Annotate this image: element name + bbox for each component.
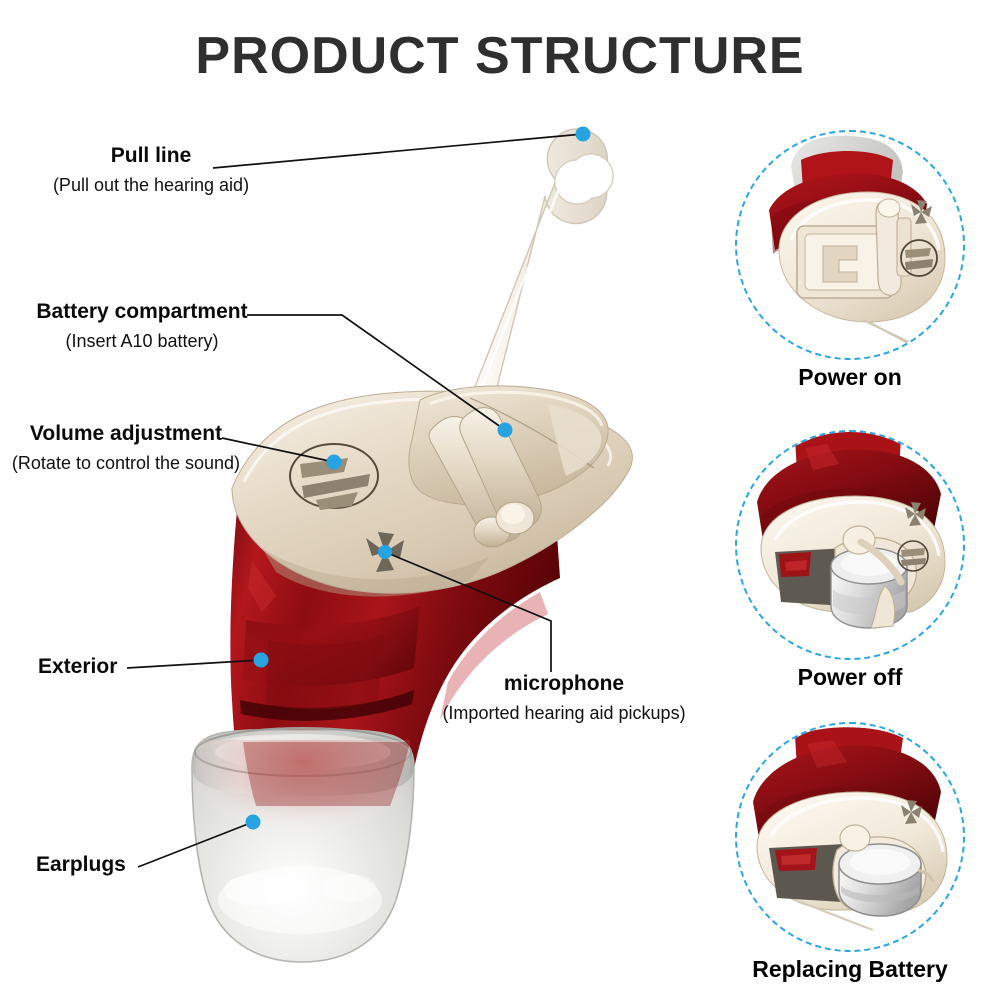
- panel-power-on-caption: Power on: [725, 364, 975, 391]
- panel-replacing-battery-figure: [735, 722, 965, 952]
- dashed-circle-power-off: [735, 430, 965, 660]
- callout-volume-sub: (Rotate to control the sound): [4, 453, 248, 474]
- dashed-circle-replacing-battery: [735, 722, 965, 952]
- callout-pull-line: Pull line (Pull out the hearing aid): [36, 144, 266, 196]
- red-shell: [230, 500, 560, 790]
- callout-battery-label: Battery compartment: [32, 300, 252, 324]
- callout-microphone-sub: (Imported hearing aid pickups): [440, 703, 688, 724]
- callout-earplugs-label: Earplugs: [36, 853, 126, 877]
- marker-dots: [246, 127, 591, 830]
- panel-replacing-battery: Replacing Battery: [725, 722, 975, 983]
- dashed-circle-power-on: [735, 130, 965, 360]
- volume-wheel-graphic: [290, 444, 378, 510]
- leader-exterior: [127, 660, 261, 668]
- battery-door-graphic: [409, 386, 608, 547]
- microphone-port-graphic: [366, 532, 404, 572]
- shell-inside-plug: [243, 742, 410, 806]
- callout-battery-sub: (Insert A10 battery): [32, 331, 252, 352]
- panel-power-on-figure: [735, 130, 965, 360]
- marker-dot-pull-line: [576, 127, 591, 142]
- callout-microphone-label: microphone: [440, 672, 688, 696]
- callout-volume-adjustment: Volume adjustment (Rotate to control the…: [4, 422, 248, 474]
- panel-power-off-figure: [735, 430, 965, 660]
- callout-pull-line-label: Pull line: [36, 144, 266, 168]
- leader-pull-line: [213, 134, 583, 168]
- callout-exterior-label: Exterior: [38, 655, 117, 679]
- marker-dot-microphone: [378, 545, 392, 559]
- earplug-graphic: [192, 728, 414, 962]
- marker-dot-exterior: [254, 653, 269, 668]
- product-structure-diagram: PRODUCT STRUCTURE: [0, 0, 1000, 1000]
- marker-dot-battery: [498, 423, 513, 438]
- panel-power-off: Power off: [725, 430, 975, 691]
- callout-exterior: Exterior: [38, 655, 117, 679]
- leader-battery: [247, 315, 505, 430]
- callout-volume-label: Volume adjustment: [4, 422, 248, 446]
- leader-microphone: [385, 552, 551, 672]
- callout-earplugs: Earplugs: [36, 853, 126, 877]
- panel-replacing-battery-caption: Replacing Battery: [725, 956, 975, 983]
- pull-line-graphic: [462, 129, 613, 427]
- faceplate: [232, 391, 632, 596]
- panel-power-on: Power on: [725, 130, 975, 391]
- marker-dot-volume: [327, 455, 342, 470]
- marker-dot-earplugs: [246, 815, 261, 830]
- callout-microphone: microphone (Imported hearing aid pickups…: [440, 672, 688, 724]
- panel-power-off-caption: Power off: [725, 664, 975, 691]
- leader-earplugs: [138, 822, 253, 867]
- callout-battery-compartment: Battery compartment (Insert A10 battery): [32, 300, 252, 352]
- callout-pull-line-sub: (Pull out the hearing aid): [36, 175, 266, 196]
- page-title: PRODUCT STRUCTURE: [0, 26, 1000, 86]
